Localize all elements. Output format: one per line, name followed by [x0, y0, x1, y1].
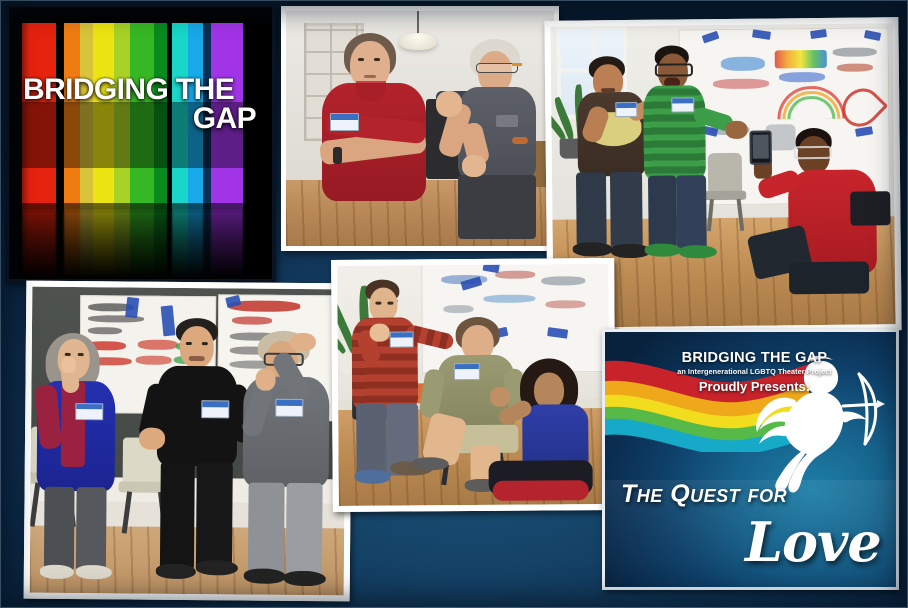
photo-collage: BRIDGING THE GAP: [0, 0, 908, 608]
glasses-temple: [512, 63, 522, 66]
jeans-right: [676, 175, 707, 251]
smiling-mouth: [189, 356, 205, 361]
name-badge: [615, 102, 637, 117]
hand-at-chin: [62, 357, 76, 373]
folding-chair: [704, 153, 747, 231]
hand-on-chest: [370, 324, 390, 342]
jeans-left: [648, 175, 677, 247]
pendant-lamp-icon: [399, 33, 437, 50]
open-hand: [139, 428, 165, 450]
collar: [356, 81, 386, 101]
red-underskirt: [493, 480, 589, 501]
eye-left: [358, 58, 364, 61]
raised-hand: [490, 387, 510, 407]
eyeglasses-icon: [794, 146, 832, 159]
hand-at-chin: [255, 369, 275, 391]
photo-scene-with-seated-participant: [331, 258, 616, 512]
lower-body: [789, 261, 869, 294]
black-pants-right: [196, 462, 233, 572]
title-card-top-fade: [9, 7, 272, 23]
photo-three-people-at-chalkboard: [24, 281, 353, 602]
jeans-right: [610, 172, 643, 248]
poster-presents-label: Proudly Presents:: [623, 379, 886, 394]
eyeglasses-icon: [655, 63, 693, 76]
red-inner-shirt: [61, 381, 86, 467]
open-hand: [725, 121, 747, 139]
poster-show-title-line1: The Quest for: [621, 480, 787, 509]
name-badge: [671, 97, 694, 112]
name-badge: [390, 331, 414, 347]
name-badge: [201, 400, 229, 418]
name-badge: [330, 113, 359, 131]
jeans-left: [576, 172, 607, 246]
title-card-right-fade: [258, 7, 272, 279]
name-badge: [75, 403, 103, 420]
head: [534, 372, 564, 408]
equipment-bag: [850, 191, 890, 225]
pants-right: [76, 487, 107, 571]
heart-drawing: [834, 81, 888, 135]
poster-show-title-line2: Love: [745, 510, 881, 574]
poster-org-subtitle: an Intergenerational LGBTQ Theater Proje…: [623, 367, 886, 376]
name-badge: [454, 363, 480, 380]
title-card-line2: GAP: [23, 104, 264, 133]
shirt-graphic: [496, 115, 518, 127]
gray-pants-left: [248, 483, 285, 575]
black-pants-left: [160, 462, 195, 570]
title-card-text: BRIDGING THE GAP: [23, 75, 264, 133]
hand: [462, 155, 486, 177]
head: [180, 326, 214, 368]
quest-for-love-poster: BRIDGING THE GAP an Intergenerational LG…: [602, 329, 899, 590]
photo-two-women-workshop: [281, 6, 559, 251]
gray-pants-right: [286, 483, 323, 575]
hand-on-head: [290, 333, 316, 351]
title-card-reflection-fade: [9, 211, 272, 279]
bridging-the-gap-title-card: BRIDGING THE GAP: [5, 3, 276, 283]
title-card-left-fade: [9, 7, 29, 279]
mouth: [364, 75, 376, 78]
pants-left: [44, 487, 75, 571]
phone-screen: [753, 135, 769, 159]
name-badge: [275, 399, 303, 417]
jeans-left: [356, 404, 387, 478]
lamp-cord: [417, 11, 419, 35]
title-card-line1: BRIDGING THE: [23, 75, 264, 104]
poster-header: BRIDGING THE GAP an Intergenerational LG…: [623, 350, 886, 394]
eye-right: [374, 58, 380, 61]
wristband: [512, 137, 528, 144]
wristwatch: [333, 147, 342, 164]
poster-org-title: BRIDGING THE GAP: [623, 350, 886, 366]
gesturing-hand: [436, 91, 462, 117]
dark-pants: [458, 175, 536, 239]
